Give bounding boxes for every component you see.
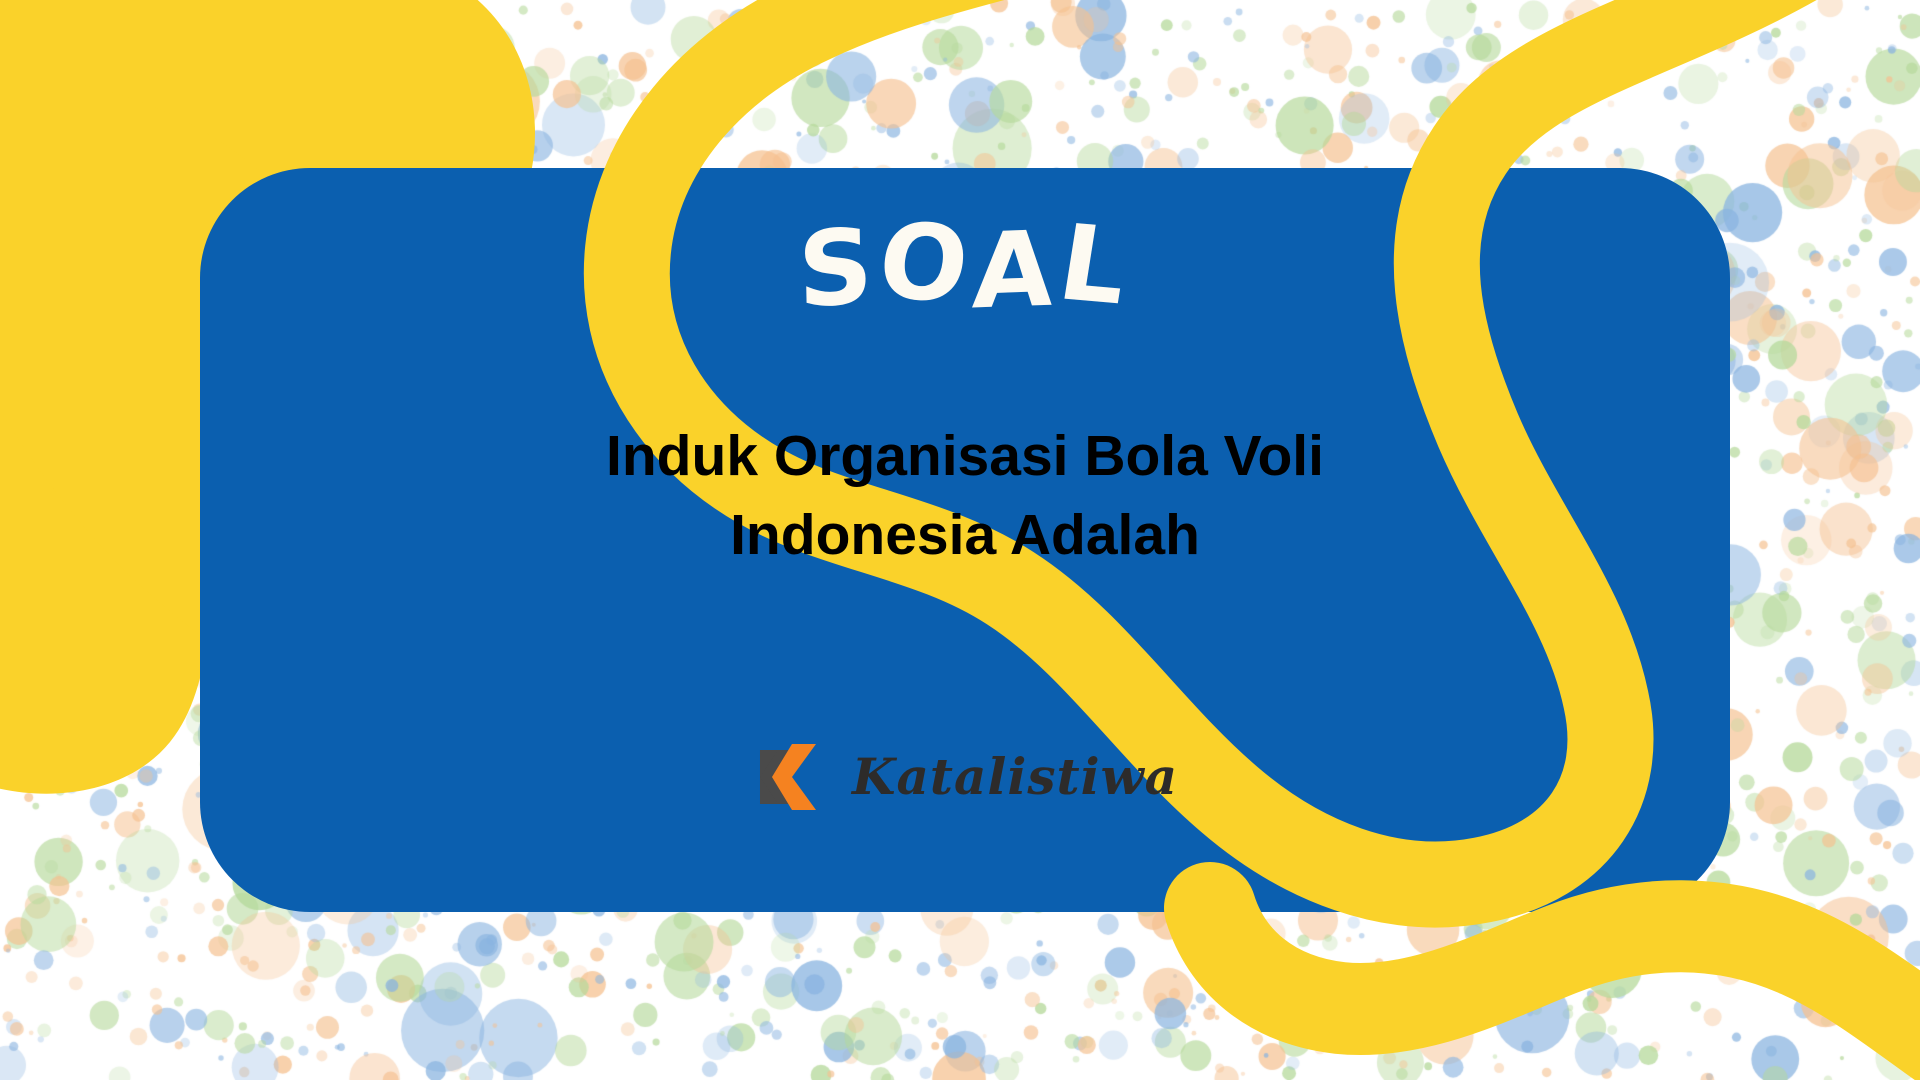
slide-canvas: SOAL Induk Organisasi Bola Voli Indonesi… xyxy=(0,0,1920,1080)
question-card xyxy=(200,168,1730,912)
